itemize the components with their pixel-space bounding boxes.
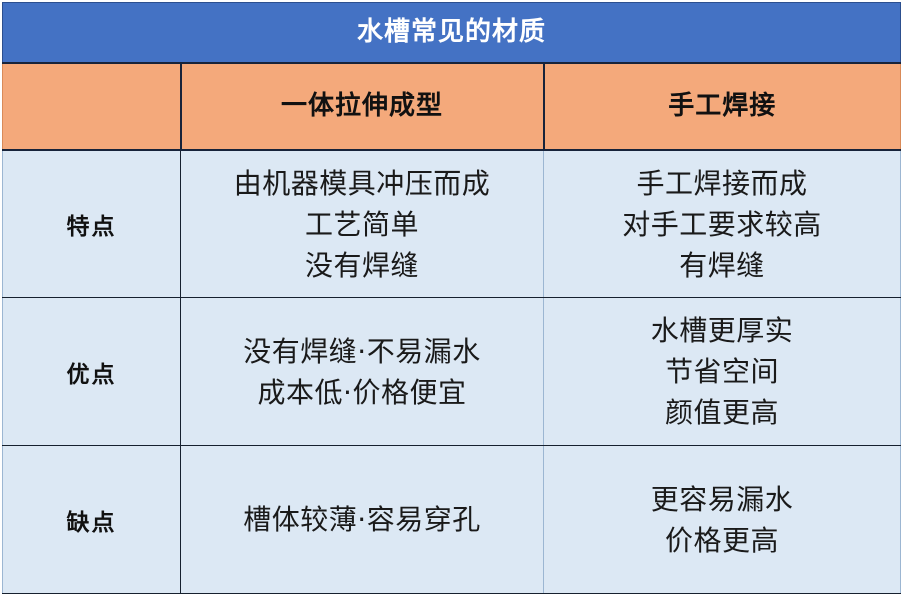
table-row: 优点 没有焊缝·不易漏水 成本低·价格便宜 水槽更厚实 节省空间 颜值更高: [3, 298, 901, 446]
cell-text-stamped-features: 由机器模具冲压而成 工艺简单 没有焊缝: [181, 163, 543, 286]
cell-welded-cons: 更容易漏水 价格更高: [544, 446, 901, 594]
header-cell-empty: [3, 63, 181, 150]
cell-stamped-features: 由机器模具冲压而成 工艺简单 没有焊缝: [181, 150, 544, 298]
header-cell-welded: 手工焊接: [544, 63, 901, 150]
cell-stamped-pros: 没有焊缝·不易漏水 成本低·价格便宜: [181, 298, 544, 446]
row-label-pros: 优点: [67, 362, 117, 388]
table-title-row: 水槽常见的材质: [3, 3, 901, 64]
row-label-cell-pros: 优点: [3, 298, 181, 446]
cell-text-welded-cons: 更容易漏水 价格更高: [544, 479, 900, 561]
header-cell-stamped: 一体拉伸成型: [181, 63, 544, 150]
table-header-row: 一体拉伸成型 手工焊接: [3, 63, 901, 150]
row-label-cell-features: 特点: [3, 150, 181, 298]
table-row: 缺点 槽体较薄·容易穿孔 更容易漏水 价格更高: [3, 446, 901, 594]
cell-text-stamped-pros: 没有焊缝·不易漏水 成本低·价格便宜: [181, 331, 543, 413]
cell-text-welded-pros: 水槽更厚实 节省空间 颜值更高: [544, 310, 900, 433]
row-label-cons: 缺点: [67, 510, 117, 536]
row-label-cell-cons: 缺点: [3, 446, 181, 594]
row-label-features: 特点: [67, 214, 117, 240]
cell-welded-pros: 水槽更厚实 节省空间 颜值更高: [544, 298, 901, 446]
cell-welded-features: 手工焊接而成 对手工要求较高 有焊缝: [544, 150, 901, 298]
header-label-welded: 手工焊接: [668, 91, 776, 121]
header-label-stamped: 一体拉伸成型: [281, 91, 443, 121]
table-title-cell: 水槽常见的材质: [3, 3, 901, 64]
table-row: 特点 由机器模具冲压而成 工艺简单 没有焊缝 手工焊接而成 对手工要求较高 有焊…: [3, 150, 901, 298]
page-root: 水槽常见的材质 一体拉伸成型 手工焊接 特点: [0, 0, 910, 589]
page-title: 水槽常见的材质: [357, 17, 546, 47]
cell-stamped-cons: 槽体较薄·容易穿孔: [181, 446, 544, 594]
cell-text-stamped-cons: 槽体较薄·容易穿孔: [181, 499, 543, 540]
cell-text-welded-features: 手工焊接而成 对手工要求较高 有焊缝: [544, 163, 900, 286]
sink-material-comparison-table: 水槽常见的材质 一体拉伸成型 手工焊接 特点: [2, 2, 901, 594]
